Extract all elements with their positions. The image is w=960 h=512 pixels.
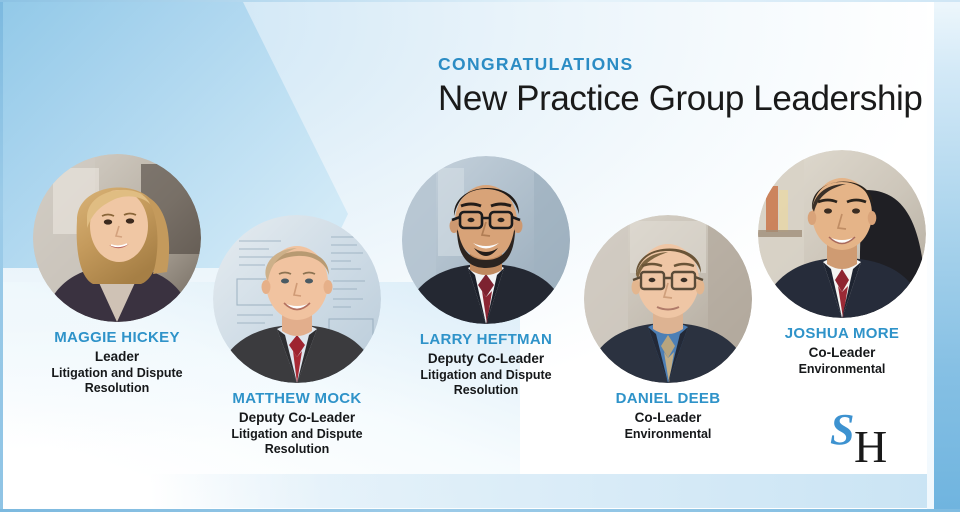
person-group: Litigation and Dispute Resolution [207, 427, 387, 458]
frame-border-left [0, 0, 3, 512]
person-role: Co-Leader [752, 344, 932, 361]
portrait-daniel-deeb [584, 215, 752, 383]
header-block: CONGRATULATIONS New Practice Group Leade… [438, 55, 938, 118]
person-card-matthew-mock: MATTHEW MOCK Deputy Co-Leader Litigation… [207, 215, 387, 458]
portrait-larry-heftman [402, 156, 570, 324]
person-role: Co-Leader [578, 409, 758, 426]
person-role: Deputy Co-Leader [207, 409, 387, 426]
person-role: Deputy Co-Leader [396, 350, 576, 367]
person-group: Litigation and Dispute Resolution [27, 366, 207, 397]
frame-border-top [0, 0, 960, 2]
logo-letter-h: H [854, 424, 887, 470]
person-group: Environmental [752, 362, 932, 378]
schiff-hardin-logo: S H [828, 408, 908, 474]
logo-letter-s: S [830, 408, 854, 452]
eyebrow-congratulations: CONGRATULATIONS [438, 55, 938, 74]
person-name: DANIEL DEEB [578, 390, 758, 407]
portrait-matthew-mock [213, 215, 381, 383]
person-group: Litigation and Dispute Resolution [396, 368, 576, 399]
person-name: JOSHUA MORE [752, 325, 932, 342]
person-card-daniel-deeb: DANIEL DEEB Co-Leader Environmental [578, 215, 758, 442]
person-card-larry-heftman: LARRY HEFTMAN Deputy Co-Leader Litigatio… [396, 156, 576, 399]
person-role: Leader [27, 348, 207, 365]
person-group: Environmental [578, 427, 758, 443]
person-card-joshua-more: JOSHUA MORE Co-Leader Environmental [752, 150, 932, 377]
person-name: MATTHEW MOCK [207, 390, 387, 407]
person-name: MAGGIE HICKEY [27, 329, 207, 346]
background-bottom-sliver [150, 474, 960, 508]
page-title: New Practice Group Leadership [438, 79, 938, 118]
portrait-maggie-hickey [33, 154, 201, 322]
congratulations-announcement-graphic: CONGRATULATIONS New Practice Group Leade… [0, 0, 960, 512]
portrait-joshua-more [758, 150, 926, 318]
person-card-maggie-hickey: MAGGIE HICKEY Leader Litigation and Disp… [27, 154, 207, 397]
person-name: LARRY HEFTMAN [396, 331, 576, 348]
